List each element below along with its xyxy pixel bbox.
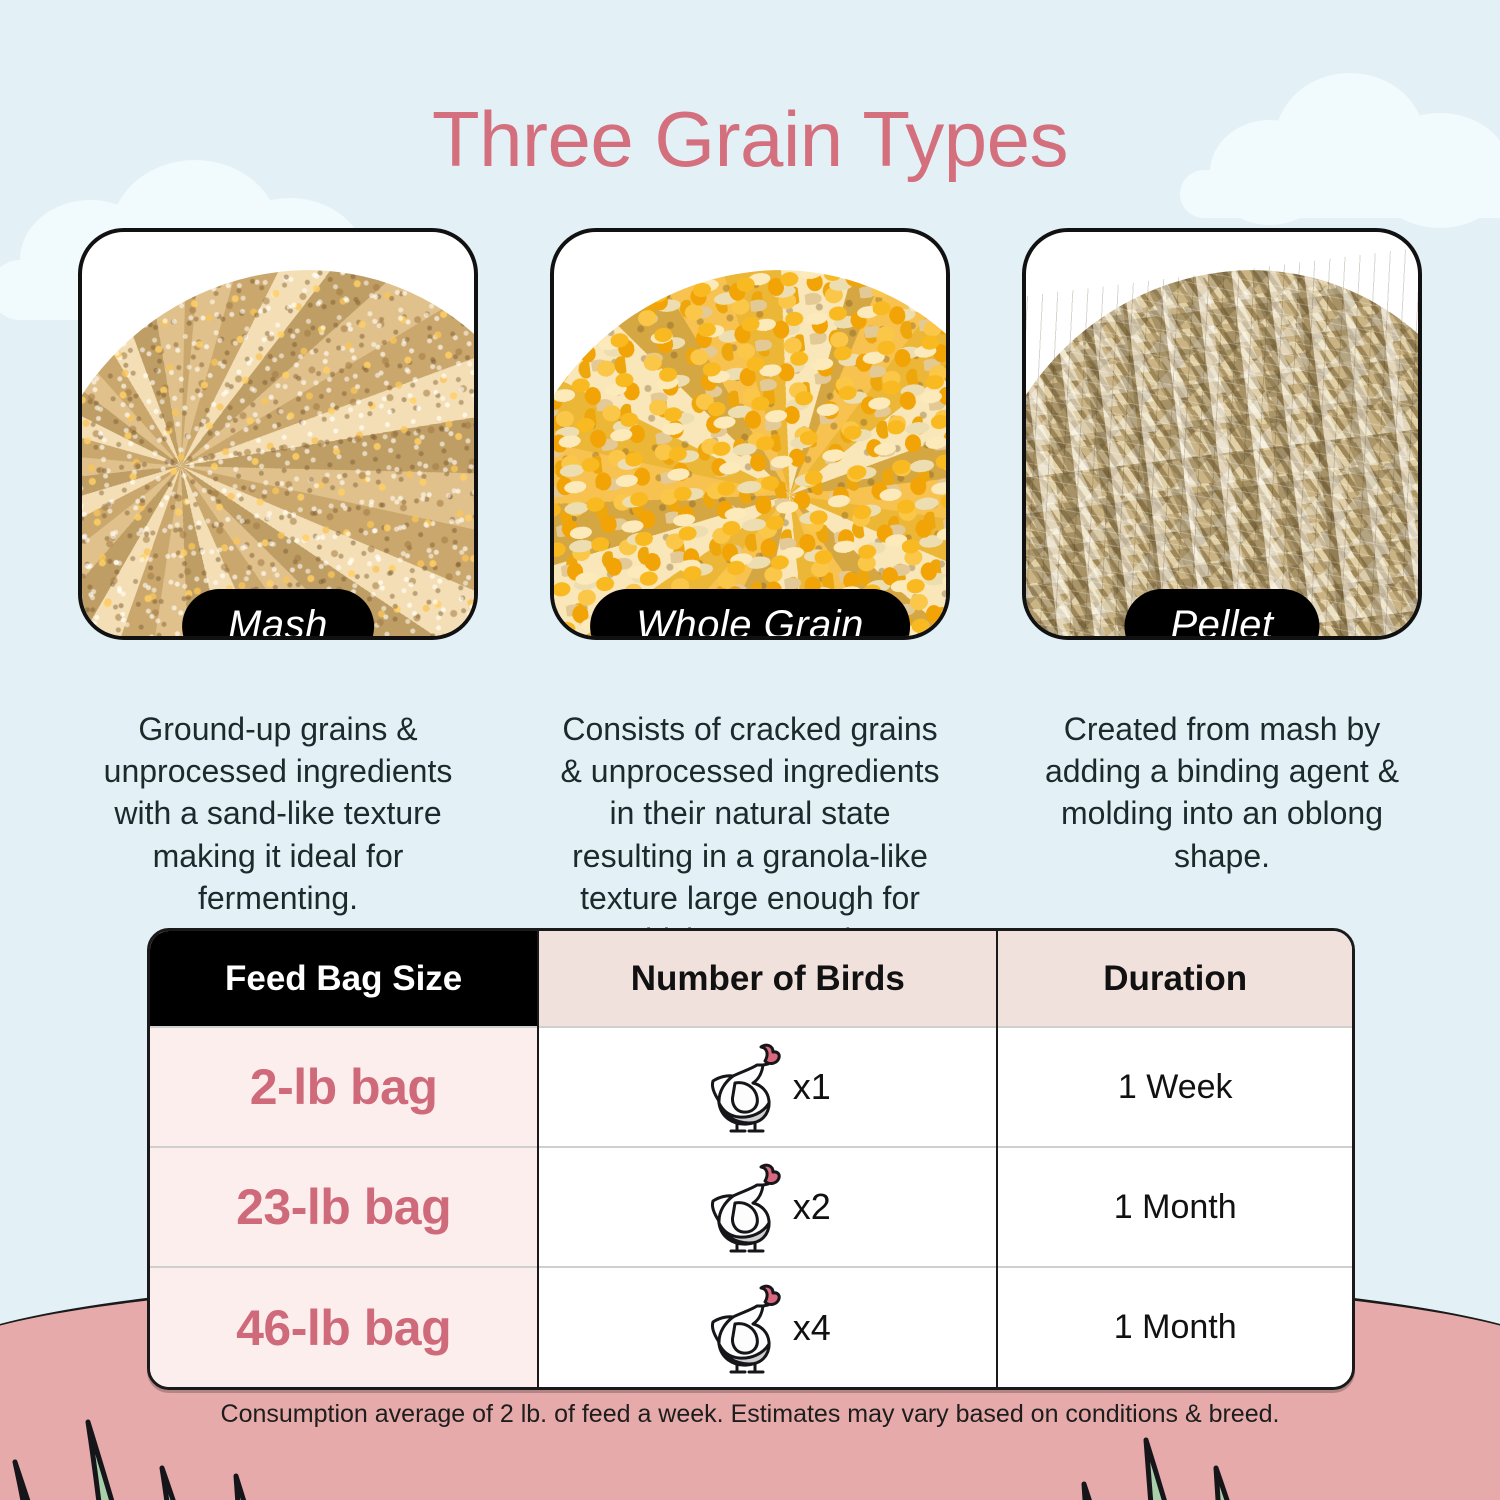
bird-count-label: x4 xyxy=(793,1307,831,1349)
bird-count-label: x2 xyxy=(793,1186,831,1228)
table-row: 2-lb bag xyxy=(150,1027,1352,1147)
cell-duration: 1 Month xyxy=(997,1267,1352,1387)
cell-bag-size: 2-lb bag xyxy=(150,1027,538,1147)
table-row: 46-lb bag xyxy=(150,1267,1352,1387)
feed-bag-table: Feed Bag Size Number of Birds Duration 2… xyxy=(147,928,1355,1390)
bird-count-label: x1 xyxy=(793,1066,831,1108)
footnote-text: Consumption average of 2 lb. of feed a w… xyxy=(0,1400,1500,1429)
cell-number-of-birds: x4 xyxy=(538,1267,997,1387)
column-header-duration: Duration xyxy=(997,931,1352,1027)
pellet-pile-image xyxy=(1022,242,1422,640)
page-title: Three Grain Types xyxy=(0,100,1500,178)
cell-number-of-birds: x1 xyxy=(538,1027,997,1147)
grain-card-whole-grain: Whole Grain Consists of cracked grains &… xyxy=(550,228,950,961)
chicken-icon xyxy=(705,1041,787,1133)
grain-type-card-list: Mash Ground-up grains & unprocessed ingr… xyxy=(78,228,1422,961)
table-row: 23-lb bag xyxy=(150,1147,1352,1267)
card-label-pellet: Pellet xyxy=(1124,589,1319,640)
column-header-feed-bag-size: Feed Bag Size xyxy=(150,931,538,1027)
table-header-row: Feed Bag Size Number of Birds Duration xyxy=(150,931,1352,1027)
column-header-number-of-birds: Number of Birds xyxy=(538,931,997,1027)
whole-grain-pile-image xyxy=(550,242,950,640)
pellet-photo: Pellet xyxy=(1022,228,1422,640)
cell-duration: 1 Month xyxy=(997,1147,1352,1267)
cell-bag-size: 23-lb bag xyxy=(150,1147,538,1267)
card-label-mash: Mash xyxy=(182,589,374,640)
cell-number-of-birds: x2 xyxy=(538,1147,997,1267)
cell-duration: 1 Week xyxy=(997,1027,1352,1147)
card-label-whole-grain: Whole Grain xyxy=(590,589,910,640)
grain-card-pellet: Pellet Created from mash by adding a bin… xyxy=(1022,228,1422,961)
whole-grain-photo: Whole Grain xyxy=(550,228,950,640)
chicken-icon xyxy=(705,1282,787,1374)
chicken-icon xyxy=(705,1161,787,1253)
card-description-pellet: Created from mash by adding a binding ag… xyxy=(1022,708,1422,877)
card-description-mash: Ground-up grains & unprocessed ingredien… xyxy=(78,708,478,919)
card-description-whole-grain: Consists of cracked grains & unprocessed… xyxy=(550,708,950,961)
cell-bag-size: 46-lb bag xyxy=(150,1267,538,1387)
grain-card-mash: Mash Ground-up grains & unprocessed ingr… xyxy=(78,228,478,961)
mash-photo: Mash xyxy=(78,228,478,640)
mash-pile-image xyxy=(78,242,478,640)
